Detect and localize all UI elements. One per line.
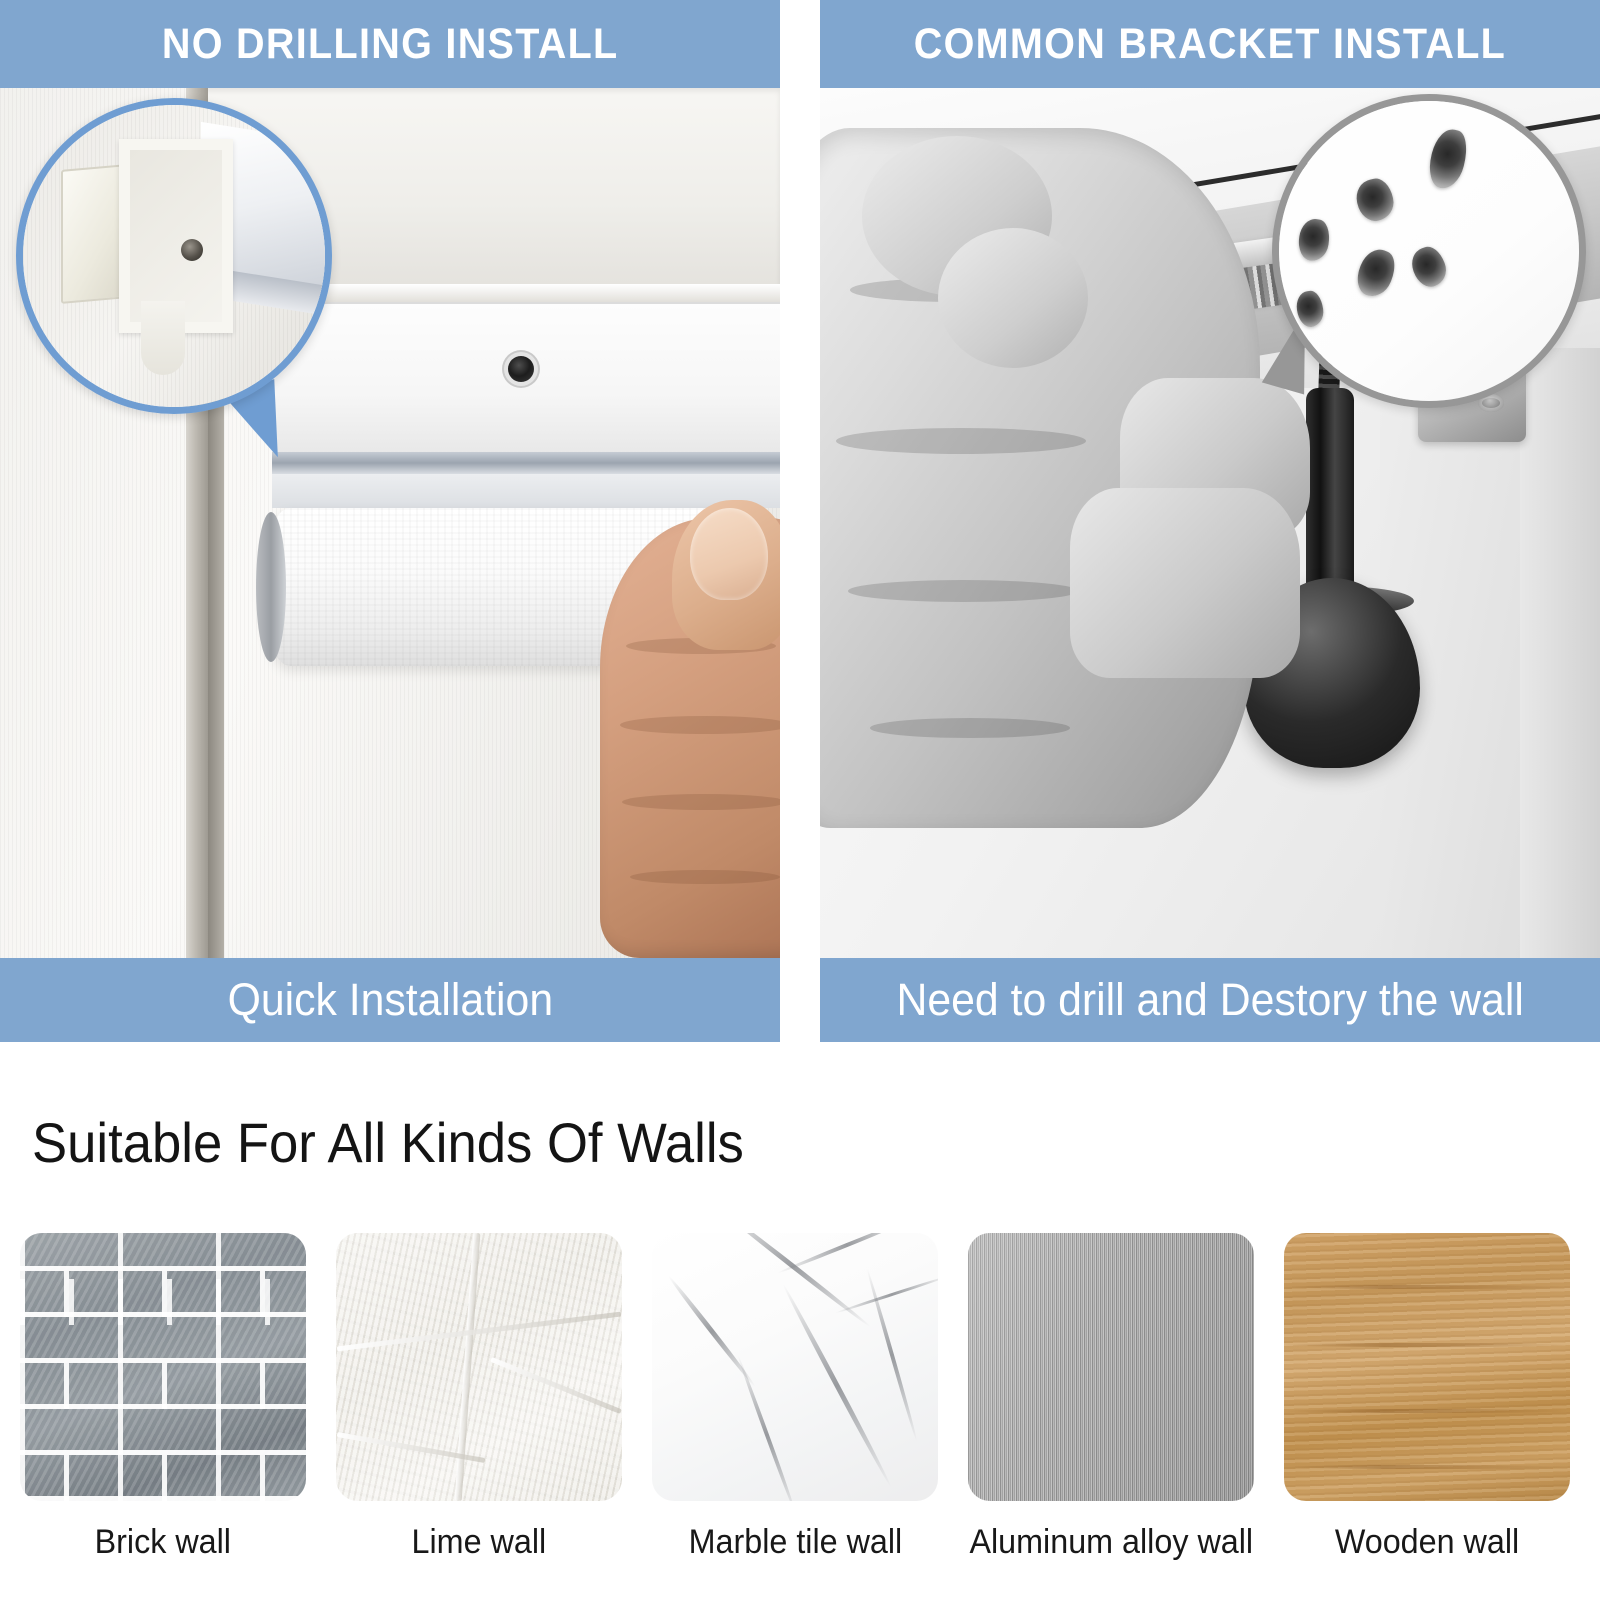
right-panel-footer-text: Need to drill and Destory the wall (896, 974, 1523, 1026)
section-title: Suitable For All Kinds Of Walls (32, 1110, 744, 1175)
lime-plaster-texture-tile (336, 1233, 622, 1501)
wall-swatch-label: Brick wall (95, 1523, 231, 1562)
thumb (1070, 488, 1300, 678)
thumbnail (690, 508, 768, 600)
wall-swatch-row: Brick wall Lime wall Marble t (20, 1233, 1580, 1562)
marble-texture-tile (652, 1233, 938, 1501)
left-magnifier-callout (16, 98, 332, 414)
left-panel-footer-text: Quick Installation (227, 974, 553, 1026)
wall-swatch-wood[interactable]: Wooden wall (1284, 1233, 1570, 1562)
wood-grain-texture-tile (1284, 1233, 1570, 1501)
wall-swatch-aluminum[interactable]: Aluminum alloy wall (968, 1233, 1254, 1562)
right-panel-header-text: COMMON BRACKET INSTALL (914, 20, 1506, 69)
bracket-stem (141, 301, 185, 375)
wall-swatch-lime[interactable]: Lime wall (336, 1233, 622, 1562)
right-magnifier-callout (1272, 94, 1586, 408)
left-panel-footer: Quick Installation (0, 958, 780, 1042)
wall-swatch-label: Marble tile wall (688, 1523, 902, 1562)
holder-screw-hole-icon (508, 356, 534, 382)
suitable-walls-section: Suitable For All Kinds Of Walls Brick wa… (0, 1042, 1600, 1600)
holder-underside (272, 474, 780, 508)
left-panel-header: NO DRILLING INSTALL (0, 0, 780, 88)
left-panel-photo (0, 88, 780, 958)
brick-texture-tile (20, 1233, 306, 1501)
paper-roll-end-cap (256, 512, 286, 662)
right-panel-photo (820, 88, 1600, 958)
wall-swatch-brick[interactable]: Brick wall (20, 1233, 306, 1562)
right-panel-header: COMMON BRACKET INSTALL (820, 0, 1600, 88)
comparison-section: NO DRILLING INSTALL (0, 0, 1600, 1042)
wall-swatch-marble[interactable]: Marble tile wall (652, 1233, 938, 1562)
panel-no-drilling-install: NO DRILLING INSTALL (0, 0, 780, 1042)
cabinet-side-panel (208, 388, 224, 958)
adhesive-pad (61, 164, 127, 304)
holder-metal-rail (272, 452, 780, 474)
panel-common-bracket-install: COMMON BRACKET INSTALL (820, 0, 1600, 1042)
brick-mortar-offset (20, 1233, 306, 1501)
right-panel-footer: Need to drill and Destory the wall (820, 958, 1600, 1042)
wall-swatch-label: Wooden wall (1335, 1523, 1519, 1562)
knuckle (938, 228, 1088, 368)
left-panel-header-text: NO DRILLING INSTALL (162, 20, 619, 69)
screwdriver-shaft (1306, 388, 1354, 598)
cabinet-right-side-panel (1520, 348, 1600, 958)
wall-swatch-label: Aluminum alloy wall (969, 1523, 1253, 1562)
wall-swatch-label: Lime wall (412, 1523, 547, 1562)
brushed-aluminum-texture-tile (968, 1233, 1254, 1501)
bracket-screw-icon (181, 239, 203, 261)
